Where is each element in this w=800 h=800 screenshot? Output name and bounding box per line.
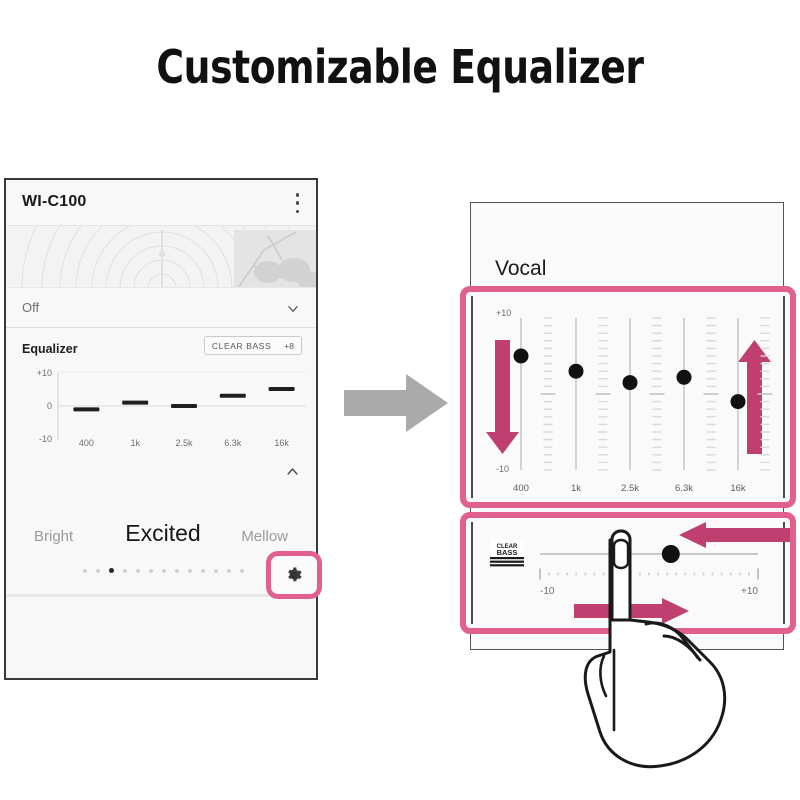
preset-next-label[interactable]: Mellow [241, 528, 288, 545]
clear-bass-logo-line2: BASS [497, 548, 518, 557]
clear-bass-badge-label: CLEAR BASS [212, 341, 271, 351]
kebab-menu-icon[interactable] [295, 193, 300, 213]
chart-xtick-label: 2.5k [175, 438, 193, 448]
sound-effect-value: Off [22, 300, 39, 315]
app-header: WI-C100 [6, 180, 316, 226]
clear-bass-badge-value: +8 [284, 341, 294, 351]
gear-icon-wrap[interactable] [271, 556, 317, 594]
preset-dot[interactable] [96, 569, 100, 573]
chevron-up-icon[interactable] [285, 464, 300, 479]
equalizer-sliders-panel[interactable]: +10 -10 4001k2.5k6.3k16k [466, 292, 790, 502]
chart-xtick-label: 16k [274, 438, 289, 448]
equalizer-collapse-row[interactable] [6, 456, 316, 490]
preset-dot[interactable] [149, 569, 153, 573]
equalizer-section: Equalizer CLEAR BASS +8 +10 0 -10 4001k2… [6, 328, 316, 456]
kebab-dot [296, 210, 300, 214]
clear-bass-svg[interactable]: CLEAR BASS -10 +10 [466, 518, 790, 628]
slider-band-label: 2.5k [621, 483, 639, 494]
slider-handle[interactable] [569, 364, 584, 379]
settings-button-highlight[interactable] [266, 551, 322, 599]
preset-dot[interactable] [136, 569, 140, 573]
chart-xtick-label: 1k [130, 438, 140, 448]
device-name-label: WI-C100 [22, 193, 87, 211]
slider-band-label: 1k [571, 483, 581, 494]
equalizer-sliders-svg[interactable]: +10 -10 4001k2.5k6.3k16k [466, 292, 790, 502]
app-banner-image [6, 226, 316, 288]
slider-axis-top: +10 [496, 308, 511, 318]
chart-xticks: 4001k2.5k6.3k16k [79, 438, 289, 448]
kebab-dot [296, 193, 300, 197]
slider-band-label: 400 [513, 483, 529, 494]
detail-screen-title: Vocal [495, 257, 546, 281]
page-title: Customizable Equalizer [72, 40, 728, 94]
chart-bars [73, 387, 294, 411]
clear-bass-max-label: +10 [741, 586, 758, 597]
chart-ytick-top: +10 [37, 368, 52, 378]
slider-handle[interactable] [514, 349, 529, 364]
clear-bass-logo-icon: CLEAR BASS [490, 540, 524, 568]
preset-dot[interactable] [201, 569, 205, 573]
slider-handle[interactable] [623, 375, 638, 390]
sound-effect-row[interactable]: Off [6, 288, 316, 328]
slider-band-label: 16k [730, 483, 746, 494]
chart-xtick-label: 6.3k [224, 438, 242, 448]
preset-dot[interactable] [83, 569, 87, 573]
clear-bass-min-label: -10 [540, 586, 555, 597]
transition-arrow-icon [344, 372, 448, 434]
slider-band-label: 6.3k [675, 483, 693, 494]
chevron-down-icon[interactable] [286, 302, 300, 316]
preset-dot[interactable] [214, 569, 218, 573]
slider-handle[interactable] [731, 394, 746, 409]
chart-ytick-bottom: -10 [39, 434, 52, 444]
clear-bass-panel[interactable]: CLEAR BASS -10 +10 [466, 518, 790, 628]
kebab-dot [296, 201, 300, 205]
phone-app-card: WI-C100 [4, 178, 318, 680]
clear-bass-badge[interactable]: CLEAR BASS +8 [204, 336, 302, 355]
chart-ytick-mid: 0 [47, 401, 52, 411]
preset-dot[interactable] [162, 569, 166, 573]
preset-dot[interactable] [123, 569, 127, 573]
preset-dot[interactable] [188, 569, 192, 573]
preset-dot[interactable] [175, 569, 179, 573]
gear-icon[interactable] [285, 566, 303, 584]
soundwave-artwork-icon [6, 226, 316, 288]
equalizer-preview-chart[interactable]: +10 0 -10 4001k2.5k6.3k16k [6, 364, 320, 450]
slider-axis-bottom: -10 [496, 464, 509, 474]
preset-dot[interactable] [109, 568, 114, 573]
equalizer-section-label: Equalizer [22, 342, 78, 356]
screenshot-root: Customizable Equalizer WI-C100 [0, 0, 800, 800]
slider-handle[interactable] [677, 370, 692, 385]
clear-bass-slider-handle[interactable] [662, 545, 680, 563]
preset-dot[interactable] [240, 569, 244, 573]
preset-dot[interactable] [227, 569, 231, 573]
chart-xtick-label: 400 [79, 438, 94, 448]
